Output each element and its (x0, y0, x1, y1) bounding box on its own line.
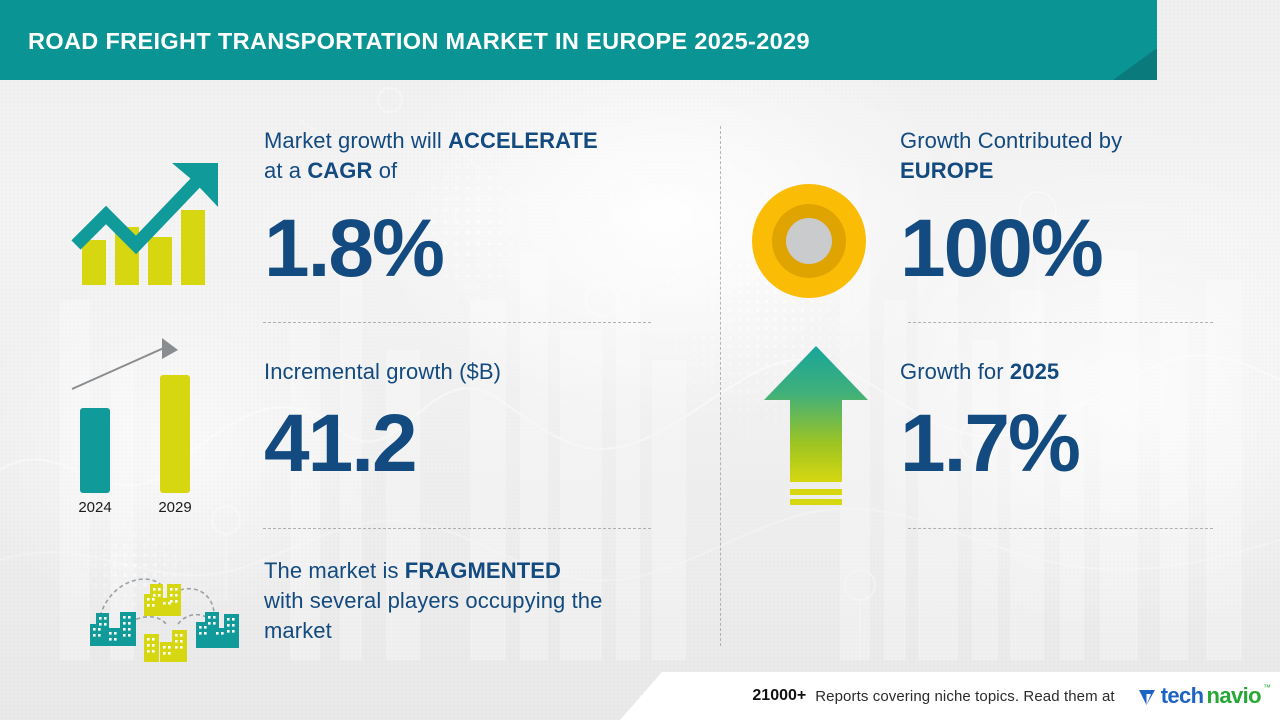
cagr-line1-bold: ACCELERATE (448, 128, 598, 153)
vertical-divider (720, 126, 721, 646)
cagr-line2-bold: CAGR (307, 158, 372, 183)
growth-chart-icon (60, 145, 235, 300)
cagr-line2-prefix: at a (264, 158, 307, 183)
technavio-logo[interactable]: technavio™ (1138, 683, 1272, 709)
bar-comparison-icon: 2024 2029 (62, 332, 227, 517)
incremental-growth-value: 41.2 (264, 403, 664, 485)
footer: 21000+ Reports covering niche topics. Re… (0, 672, 1280, 720)
up-arrow-icon (760, 342, 872, 514)
fragmentation-line3: market (264, 618, 332, 643)
fragmentation-line2: with several players occupying the (264, 588, 602, 613)
report-count: 21000+ (752, 687, 806, 705)
page-title: ROAD FREIGHT TRANSPORTATION MARKET IN EU… (28, 28, 810, 55)
divider-right-1 (908, 322, 1213, 323)
technavio-logo-tech: tech (1161, 683, 1204, 709)
cagr-line1-prefix: Market growth will (264, 128, 448, 153)
fragmentation-block: The market is FRAGMENTED with several pl… (264, 556, 684, 646)
fragmentation-description: The market is FRAGMENTED with several pl… (264, 556, 684, 646)
europe-line1-bold: EUROPE (900, 158, 994, 183)
divider-left-2 (263, 528, 651, 529)
technavio-mark-icon (1138, 686, 1158, 706)
europe-description: Growth Contributed by EUROPE (900, 126, 1230, 186)
fragmentation-line1-bold: FRAGMENTED (405, 558, 561, 583)
growth-2025-block: Growth for 2025 1.7% (900, 357, 1230, 485)
divider-left-1 (263, 322, 651, 323)
footer-tagline: Reports covering niche topics. Read them… (815, 688, 1114, 705)
growth-2025-label: Growth for 2025 (900, 357, 1230, 387)
incremental-growth-block: Incremental growth ($B) 41.2 (264, 357, 664, 485)
technavio-trademark: ™ (1263, 683, 1271, 692)
cagr-description: Market growth will ACCELERATE at a CAGR … (264, 126, 664, 186)
city-network-icon (62, 556, 242, 664)
donut-ring-icon (748, 182, 870, 300)
incremental-growth-label: Incremental growth ($B) (264, 357, 664, 387)
bar-label-2024: 2024 (78, 499, 111, 516)
growth-2025-label-bold: 2025 (1010, 359, 1059, 384)
europe-contribution-value: 100% (900, 208, 1230, 290)
europe-contribution-block: Growth Contributed by EUROPE 100% (900, 126, 1230, 290)
fragmentation-line1-prefix: The market is (264, 558, 405, 583)
technavio-logo-navio: navio (1207, 683, 1261, 709)
bar-label-2029: 2029 (158, 499, 191, 516)
cagr-value: 1.8% (264, 208, 664, 290)
cagr-line2-suffix: of (373, 158, 398, 183)
europe-line1: Growth Contributed by (900, 128, 1122, 153)
growth-2025-value: 1.7% (900, 403, 1230, 485)
growth-2025-label-prefix: Growth for (900, 359, 1010, 384)
divider-right-2 (908, 528, 1213, 529)
cagr-block: Market growth will ACCELERATE at a CAGR … (264, 126, 664, 290)
